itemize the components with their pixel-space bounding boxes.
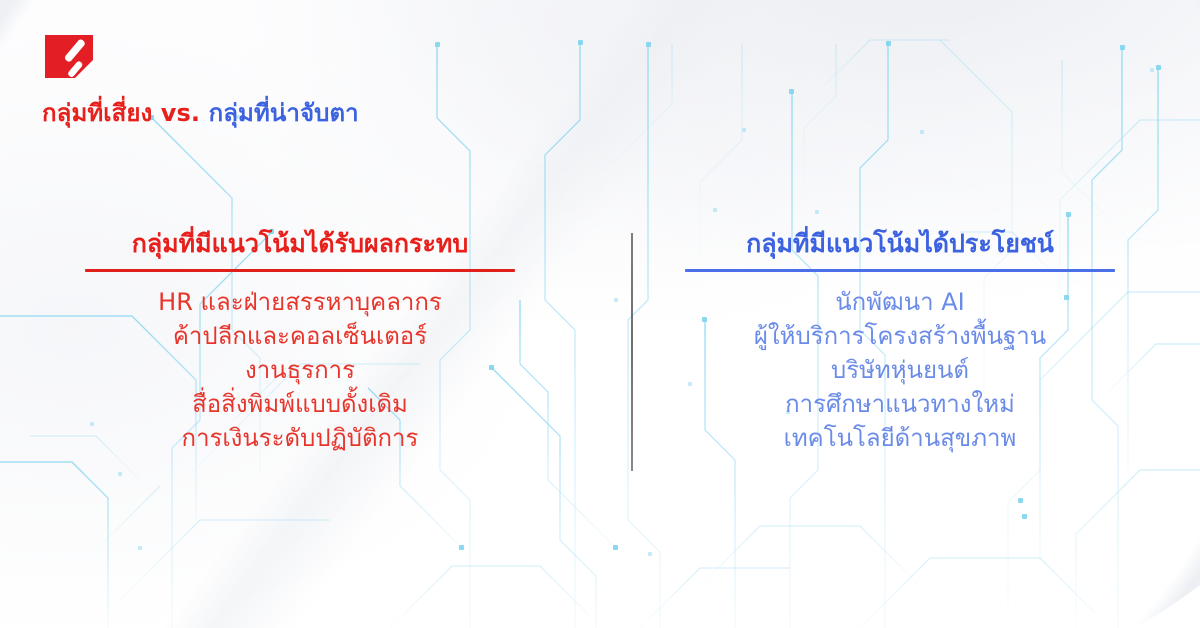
list-item: HR และฝ่ายสรรหาบุคลากร [158, 285, 442, 319]
list-item: การเงินระดับปฏิบัติการ [158, 421, 442, 455]
page-title: กลุ่มที่เสี่ยง vs. กลุ่มที่น่าจับตา [42, 98, 662, 128]
brand-logo-icon [42, 30, 96, 82]
column-to-benefit: กลุ่มที่มีแนวโน้มได้ประโยชน์ นักพัฒนา AI… [600, 228, 1200, 455]
center-divider [631, 233, 633, 471]
list-item: ผู้ให้บริการโครงสร้างพื้นฐาน [754, 319, 1046, 353]
column-at-risk: กลุ่มที่มีแนวโน้มได้รับผลกระทบ HR และฝ่า… [0, 228, 600, 455]
list-item: การศึกษาแนวทางใหม่ [754, 387, 1046, 421]
page-title-risk-part: กลุ่มที่เสี่ยง vs. [42, 99, 200, 127]
list-to-benefit: นักพัฒนา AI ผู้ให้บริการโครงสร้างพื้นฐาน… [754, 285, 1046, 455]
column-heading-to-benefit: กลุ่มที่มีแนวโน้มได้ประโยชน์ [746, 228, 1054, 260]
list-item: งานธุรการ [158, 353, 442, 387]
list-item: สื่อสิ่งพิมพ์แบบดั้งเดิม [158, 387, 442, 421]
list-at-risk: HR และฝ่ายสรรหาบุคลากร ค้าปลีกและคอลเซ็น… [158, 285, 442, 455]
column-heading-at-risk: กลุ่มที่มีแนวโน้มได้รับผลกระทบ [132, 228, 469, 260]
list-item: เทคโนโลยีด้านสุขภาพ [754, 421, 1046, 455]
page-title-watch-part: กลุ่มที่น่าจับตา [209, 99, 359, 127]
header: กลุ่มที่เสี่ยง vs. กลุ่มที่น่าจับตา [42, 30, 662, 128]
list-item: ค้าปลีกและคอลเซ็นเตอร์ [158, 319, 442, 353]
column-rule-blue [685, 269, 1115, 272]
list-item: บริษัทหุ่นยนต์ [754, 353, 1046, 387]
comparison-columns: กลุ่มที่มีแนวโน้มได้รับผลกระทบ HR และฝ่า… [0, 228, 1200, 455]
column-rule-red [85, 269, 515, 272]
infographic-canvas: กลุ่มที่เสี่ยง vs. กลุ่มที่น่าจับตา กลุ่… [0, 0, 1200, 628]
list-item: นักพัฒนา AI [754, 285, 1046, 319]
